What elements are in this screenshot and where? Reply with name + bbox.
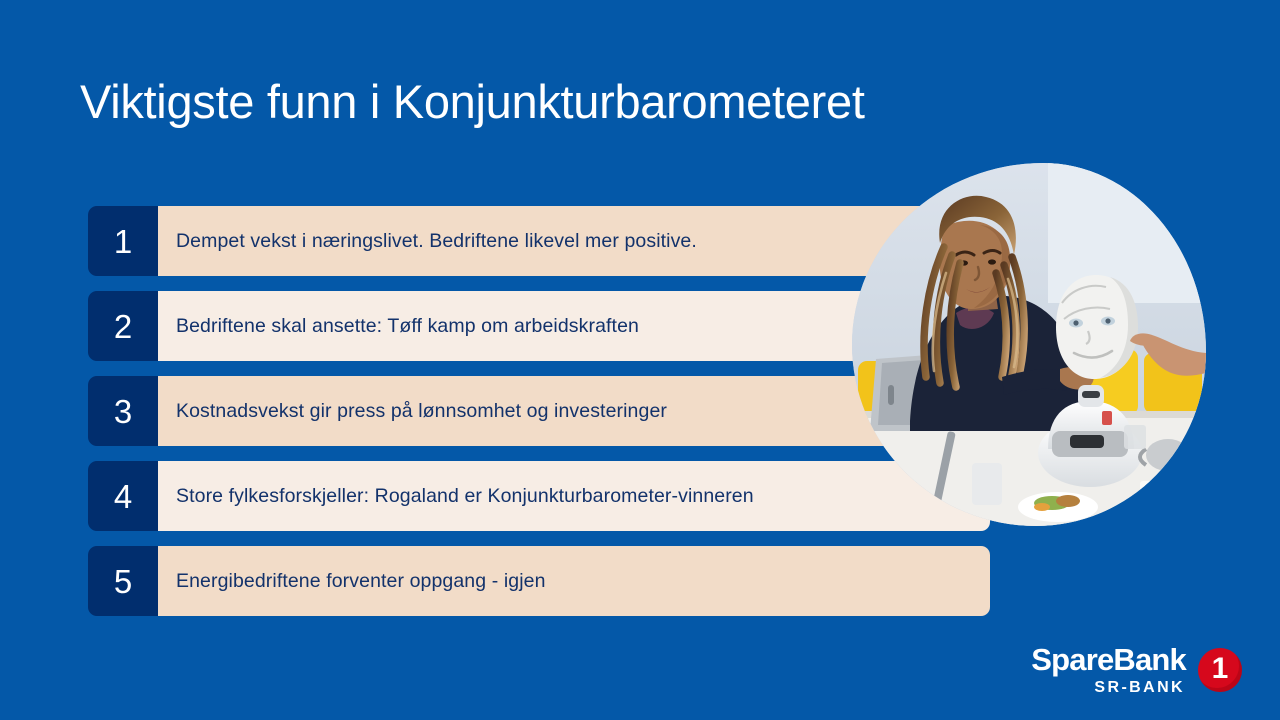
finding-number-badge: 3 xyxy=(88,376,158,446)
finding-number-badge: 5 xyxy=(88,546,158,616)
presentation-slide: Viktigste funn i Konjunkturbarometeret 1… xyxy=(0,0,1280,720)
logo-name: SpareBank xyxy=(1031,644,1186,675)
finding-text: Energibedriftene forventer oppgang - igj… xyxy=(158,546,990,616)
list-item[interactable]: 4 Store fylkesforskjeller: Rogaland er K… xyxy=(88,461,990,531)
logo-subname: SR-BANK xyxy=(1094,680,1185,696)
photo-illustration xyxy=(852,163,1206,526)
finding-text: Store fylkesforskjeller: Rogaland er Kon… xyxy=(158,461,990,531)
finding-number-badge: 2 xyxy=(88,291,158,361)
finding-number-badge: 4 xyxy=(88,461,158,531)
page-title: Viktigste funn i Konjunkturbarometeret xyxy=(80,74,865,129)
logo-wordmark: SpareBank SR-BANK xyxy=(1031,644,1186,696)
logo-number-mark: 1 xyxy=(1198,648,1242,692)
woman-with-robot-photo xyxy=(852,163,1206,526)
list-item[interactable]: 5 Energibedriftene forventer oppgang - i… xyxy=(88,546,990,616)
sparebank-1-logo: SpareBank SR-BANK 1 xyxy=(1031,644,1242,696)
finding-number-badge: 1 xyxy=(88,206,158,276)
